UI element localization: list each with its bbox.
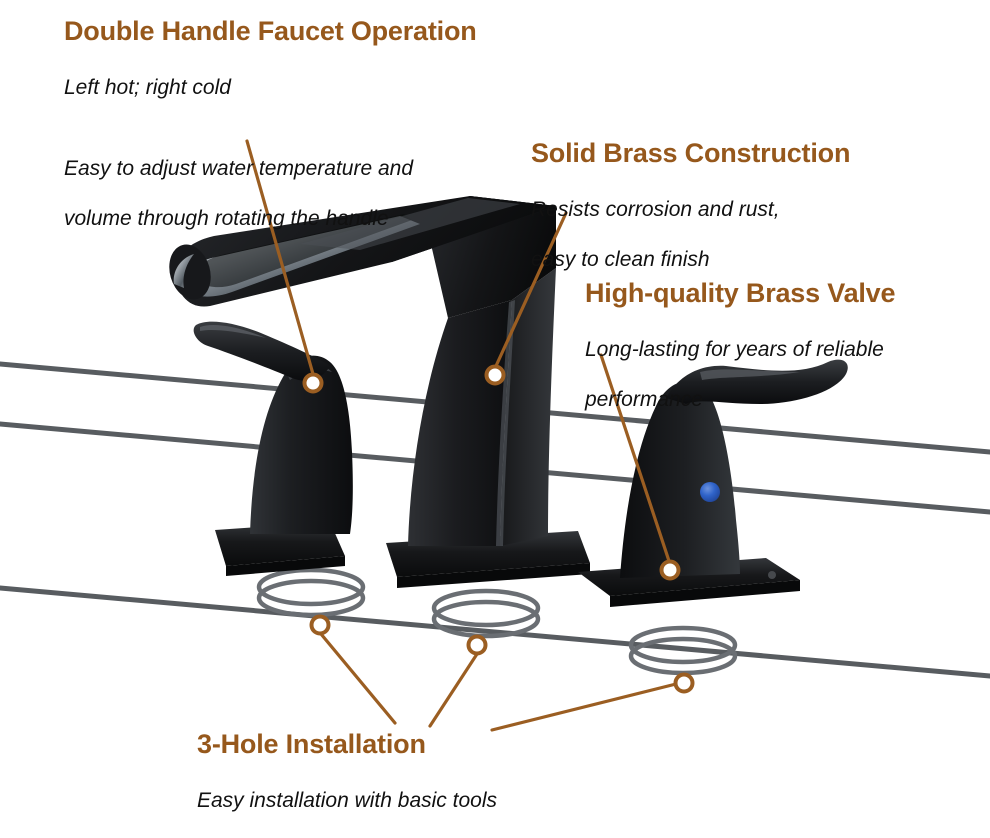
text-line: Long-lasting for years of reliable [585,337,895,362]
leader-line-hole-right [492,684,676,730]
marker-hole-right [676,675,693,692]
left-handle [194,322,353,576]
callout-solid-brass-construction: Solid Brass Construction Resists corrosi… [531,138,850,297]
marker-double-handle [305,375,322,392]
callout-title-three-hole: 3-Hole Installation [197,729,497,759]
spout-column-face [408,300,512,546]
marker-solid-brass [487,367,504,384]
callout-three-hole-installation: 3-Hole Installation Easy installation wi… [197,729,497,838]
left-handle-body [250,356,353,534]
callout-title-double-handle: Double Handle Faucet Operation [64,16,477,46]
text-line: easy to clean finish [531,247,850,272]
mounting-hole-left [259,570,363,615]
cold-indicator-dot [700,482,720,502]
callout-title-solid-brass: Solid Brass Construction [531,138,850,168]
callout-body-double-handle-line2: Easy to adjust water temperature and vol… [64,131,477,256]
text-line: Left hot; right cold [64,75,477,100]
leader-line-hole-center [430,654,477,726]
callout-title-brass-valve: High-quality Brass Valve [585,278,895,308]
callout-body-double-handle-line1: Left hot; right cold [64,50,477,125]
infographic-canvas: Double Handle Faucet Operation Left hot;… [0,0,990,818]
leader-line-hole-left [321,634,395,723]
text-line: Resists corrosion and rust, [531,197,850,222]
text-line: Easy installation with basic tools [197,788,497,813]
callout-body-three-hole: Easy installation with basic tools [197,763,497,838]
text-line: Easy to adjust water temperature and [64,156,477,181]
callout-high-quality-brass-valve: High-quality Brass Valve Long-lasting fo… [585,278,895,437]
text-line: performance [585,387,895,412]
callout-body-brass-valve: Long-lasting for years of reliable perfo… [585,312,895,437]
left-handle-lever [194,322,330,381]
marker-brass-valve [662,562,679,579]
marker-hole-center [469,637,486,654]
right-plate-screw-hole [768,571,776,579]
marker-hole-left [312,617,329,634]
text-line: volume through rotating the handle [64,206,477,231]
callout-double-handle-operation: Double Handle Faucet Operation Left hot;… [64,16,477,256]
